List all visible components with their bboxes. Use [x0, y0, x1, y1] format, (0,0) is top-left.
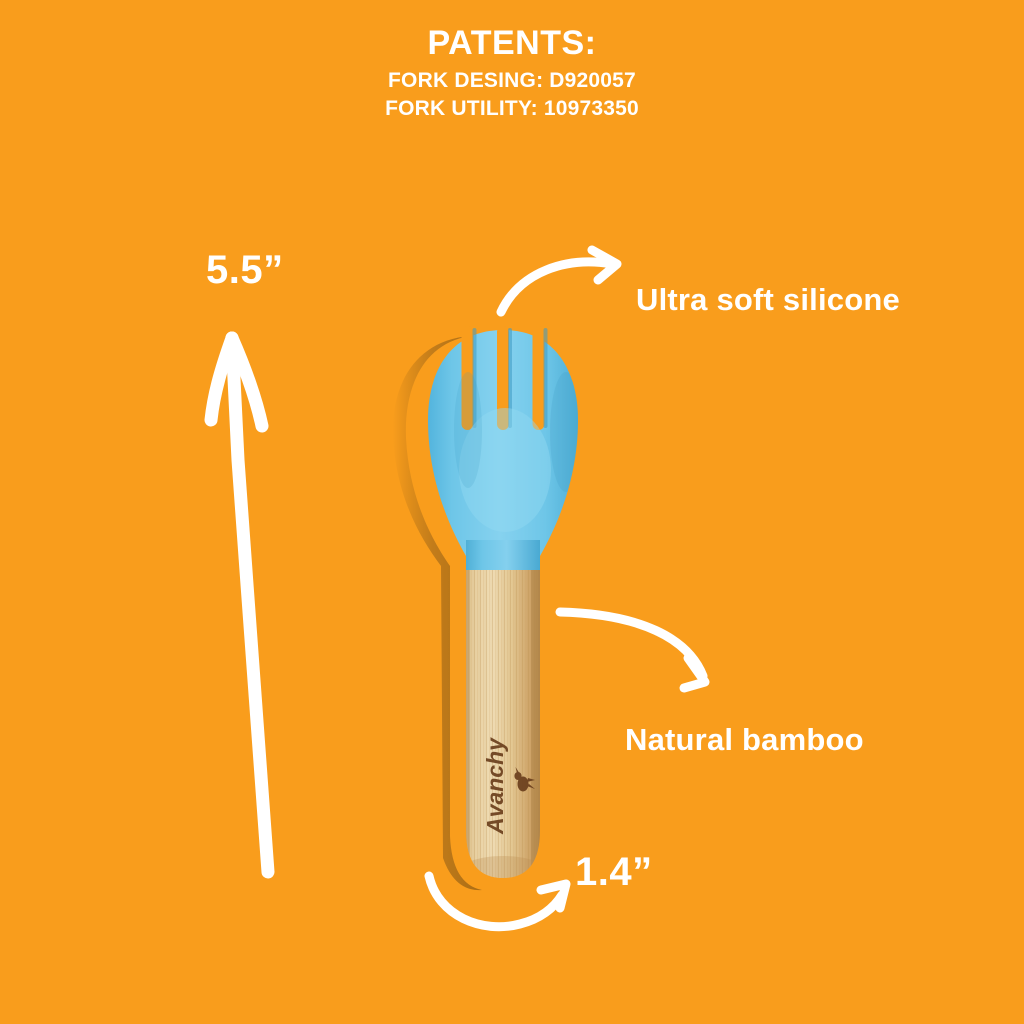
- annotation-arrows-layer: [0, 0, 1024, 1024]
- curved-arrow-down-right-icon: [560, 612, 705, 688]
- dimension-label-width: 1.4”: [575, 850, 653, 895]
- dimension-label-height: 5.5”: [206, 248, 284, 293]
- long-vertical-arrow-up-icon: [211, 338, 268, 872]
- callout-label-bamboo: Natural bamboo: [625, 722, 864, 758]
- curved-width-arrow-icon: [429, 876, 566, 927]
- product-infographic: PATENTS: FORK DESING: D920057 FORK UTILI…: [0, 0, 1024, 1024]
- callout-label-silicone: Ultra soft silicone: [636, 282, 900, 318]
- curved-arrow-up-right-icon: [501, 250, 617, 312]
